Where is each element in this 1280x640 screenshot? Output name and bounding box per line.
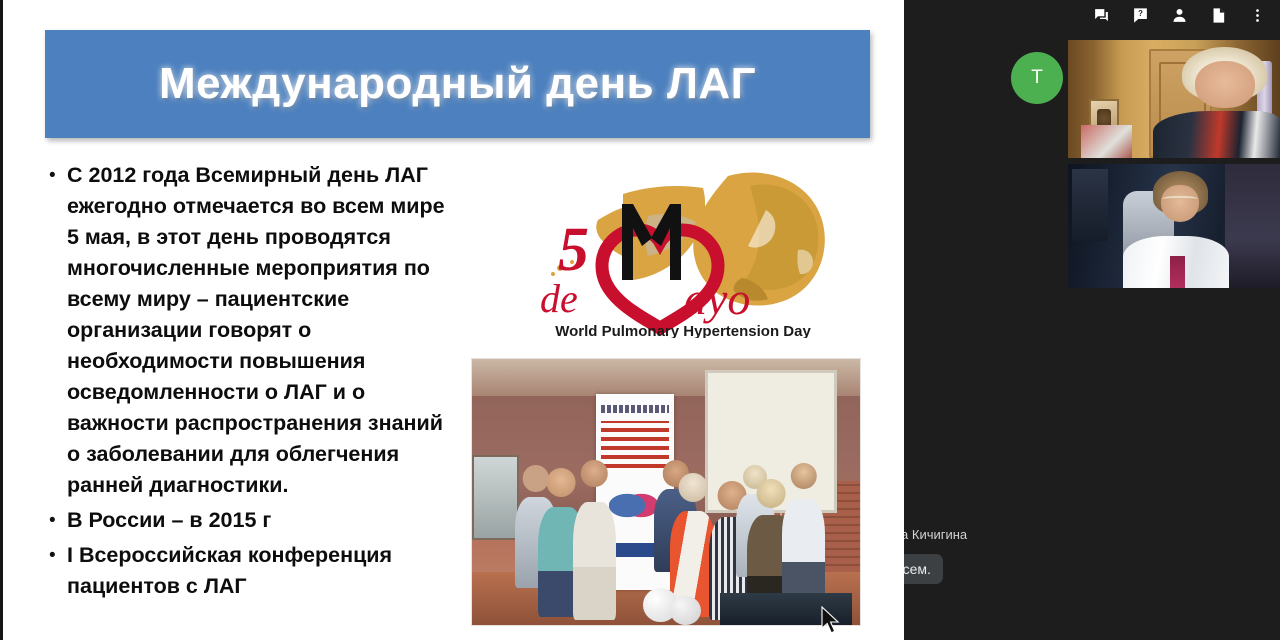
bullet-marker: • <box>41 540 67 571</box>
photo-person <box>573 460 616 620</box>
bullet-text: I Всероссийская конференция пациентов с … <box>67 540 461 602</box>
photo-person-head <box>581 460 607 486</box>
logo-ayo-text: ayo <box>684 273 750 324</box>
list-item: • С 2012 года Всемирный день ЛАГ ежегодн… <box>41 160 461 501</box>
svg-text:?: ? <box>1138 9 1143 18</box>
event-group-photo <box>471 358 861 626</box>
conference-toolbar: ? <box>904 0 1280 30</box>
photo-person <box>782 463 825 601</box>
help-icon[interactable]: ? <box>1132 7 1149 24</box>
video-2-panel <box>1072 169 1108 241</box>
document-icon[interactable] <box>1210 7 1227 24</box>
video-2-person-glasses <box>1162 196 1198 203</box>
participant-video-1[interactable] <box>1068 40 1280 158</box>
list-item: • I Всероссийская конференция пациентов … <box>41 540 461 602</box>
slide-title-banner: Международный день ЛАГ <box>45 30 870 138</box>
chat-icon[interactable] <box>1093 7 1110 24</box>
shared-slide[interactable]: Международный день ЛАГ • С 2012 года Все… <box>0 0 904 640</box>
banner-date-text <box>613 543 656 557</box>
world-ph-day-logo: 5 de ayo World Pulmonary Hypertension Da… <box>498 158 868 338</box>
photo-person-head <box>547 468 576 497</box>
video-2-wall <box>1225 164 1280 288</box>
participant-video-2[interactable] <box>1068 164 1280 288</box>
avatar-initial: Т <box>1031 67 1043 89</box>
photo-person-body <box>782 499 825 601</box>
photo-person-body <box>573 502 616 620</box>
photo-window <box>472 455 519 540</box>
video-1-cloth <box>1081 125 1132 158</box>
bullet-marker: • <box>41 160 67 191</box>
more-options-icon[interactable] <box>1249 7 1266 24</box>
mouse-cursor <box>820 606 842 636</box>
bullet-text: В России – в 2015 г <box>67 505 271 536</box>
logo-number-5: 5 <box>558 216 589 284</box>
video-2-person-tie <box>1170 256 1185 288</box>
bullet-text: С 2012 года Всемирный день ЛАГ ежегодно … <box>67 160 461 501</box>
video-1-person-face <box>1195 61 1254 108</box>
list-item: • В России – в 2015 г <box>41 505 461 536</box>
video-1-person-body <box>1153 111 1280 158</box>
bullet-marker: • <box>41 505 67 536</box>
participants-icon[interactable] <box>1171 7 1188 24</box>
photo-person-head <box>679 473 708 502</box>
photo-person-head <box>790 463 816 489</box>
photo-person-head <box>756 479 785 508</box>
banner-heading-text <box>601 405 669 413</box>
logo-de-text: de <box>540 276 578 321</box>
page-title: Международный день ЛАГ <box>159 59 756 109</box>
avatar[interactable]: Т <box>1011 52 1063 104</box>
slide-bullet-list: • С 2012 года Всемирный день ЛАГ ежегодн… <box>41 160 461 606</box>
logo-caption: World Pulmonary Hypertension Day <box>555 323 811 338</box>
photo-balloon <box>670 596 701 625</box>
